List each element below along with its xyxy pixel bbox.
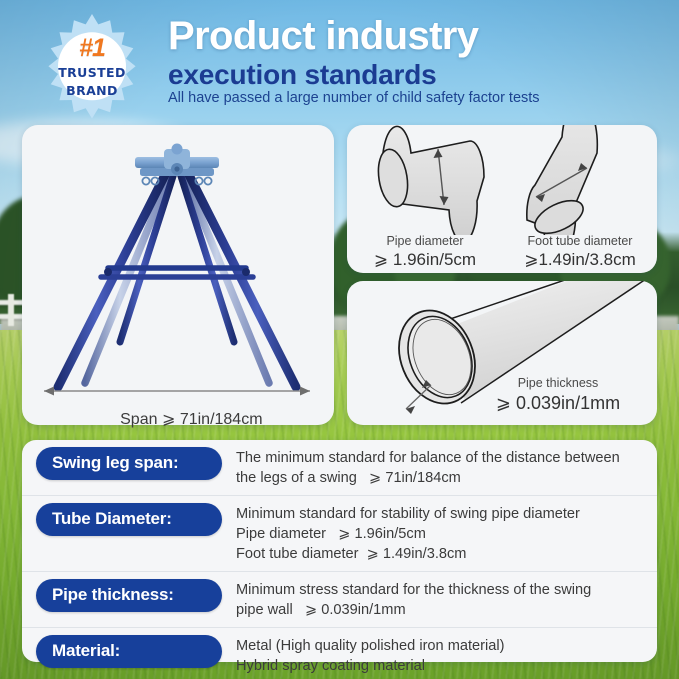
spec-line: Minimum stress standard for the thicknes… — [236, 580, 647, 600]
spec-line: Minimum standard for stability of swing … — [236, 504, 647, 524]
pipe-diameter-label: Pipe diameter — [355, 233, 495, 249]
spec-value-material: Metal (High quality polished iron materi… — [222, 635, 647, 676]
spec-label-tube-diameter: Tube Diameter: — [36, 503, 222, 536]
pipe-diameter-label-group: Pipe diameter ⩾ 1.96in/5cm — [355, 233, 495, 271]
spec-line: Pipe diameter ⩾ 1.96in/5cm — [236, 524, 647, 544]
badge-line-2: BRAND — [36, 83, 148, 98]
page-title-line-2: execution standards — [168, 58, 437, 92]
swing-frame-card: Span ⩾ 71in/184cm — [22, 125, 334, 425]
pipe-thickness-card: Pipe thickness ⩾ 0.039in/1mm — [347, 281, 657, 425]
table-row: Tube Diameter: Minimum standard for stab… — [22, 496, 657, 572]
pipe-diameter-symbol: ⩾ — [374, 250, 388, 269]
pipe-thickness-symbol: ⩾ — [496, 393, 511, 413]
badge-line-1: TRUSTED — [36, 65, 148, 80]
trusted-brand-badge: #1 TRUSTED BRAND — [36, 12, 148, 124]
spec-line: pipe wall ⩾ 0.039in/1mm — [236, 600, 647, 620]
spec-line: Hybrid spray coating material — [236, 656, 647, 676]
spec-line: The minimum standard for balance of the … — [236, 448, 647, 468]
foot-tube-diameter-value-row: ⩾1.49in/3.8cm — [507, 249, 653, 271]
pipe-diameter-value-row: ⩾ 1.96in/5cm — [355, 249, 495, 271]
foot-tube-diameter-label: Foot tube diameter — [507, 233, 653, 249]
foot-tube-cylinder-icon — [527, 125, 597, 235]
swing-span-label: Span ⩾ 71in/184cm — [22, 391, 334, 447]
table-row: Swing leg span: The minimum standard for… — [22, 440, 657, 496]
spec-line: Metal (High quality polished iron materi… — [236, 636, 647, 656]
foot-tube-diameter-label-group: Foot tube diameter ⩾1.49in/3.8cm — [507, 233, 653, 271]
cylinder-diagrams — [347, 125, 657, 235]
tube-diameter-card: Pipe diameter ⩾ 1.96in/5cm Foot tube dia… — [347, 125, 657, 273]
spec-value-tube-diameter: Minimum standard for stability of swing … — [222, 503, 647, 564]
a-frame-swing-diagram — [22, 125, 334, 425]
foot-tube-diameter-value: 1.49in/3.8cm — [538, 250, 635, 269]
pipe-diameter-value: 1.96in/5cm — [393, 250, 476, 269]
pipe-cylinder-icon — [375, 126, 484, 235]
spec-line: the legs of a swing ⩾ 71in/184cm — [236, 468, 647, 488]
spec-line: Foot tube diameter ⩾ 1.49in/3.8cm — [236, 544, 647, 564]
swing-span-value: 71in/184cm — [180, 411, 263, 428]
table-row: Pipe thickness: Minimum stress standard … — [22, 572, 657, 628]
infographic-page: #1 TRUSTED BRAND Product industry execut… — [0, 0, 679, 679]
swing-span-text: Span — [120, 411, 157, 428]
spec-label-pipe-thickness: Pipe thickness: — [36, 579, 222, 612]
page-title-line-1: Product industry — [168, 12, 478, 60]
specifications-table: Swing leg span: The minimum standard for… — [22, 440, 657, 662]
spec-value-pipe-thickness: Minimum stress standard for the thicknes… — [222, 579, 647, 620]
pipe-thickness-label-group: Pipe thickness ⩾ 0.039in/1mm — [465, 375, 651, 415]
pipe-thickness-label: Pipe thickness — [465, 375, 651, 391]
table-row: Material: Metal (High quality polished i… — [22, 628, 657, 679]
badge-number: #1 — [36, 34, 148, 63]
spec-value-swing-leg-span: The minimum standard for balance of the … — [222, 447, 647, 488]
pipe-thickness-value-row: ⩾ 0.039in/1mm — [465, 391, 651, 415]
foot-tube-diameter-symbol: ⩾ — [524, 250, 538, 269]
swing-span-symbol: ⩾ — [162, 411, 175, 428]
pipe-thickness-value: 0.039in/1mm — [516, 393, 620, 413]
spec-label-material: Material: — [36, 635, 222, 668]
page-subtitle: All have passed a large number of child … — [168, 88, 540, 108]
spec-label-swing-leg-span: Swing leg span: — [36, 447, 222, 480]
